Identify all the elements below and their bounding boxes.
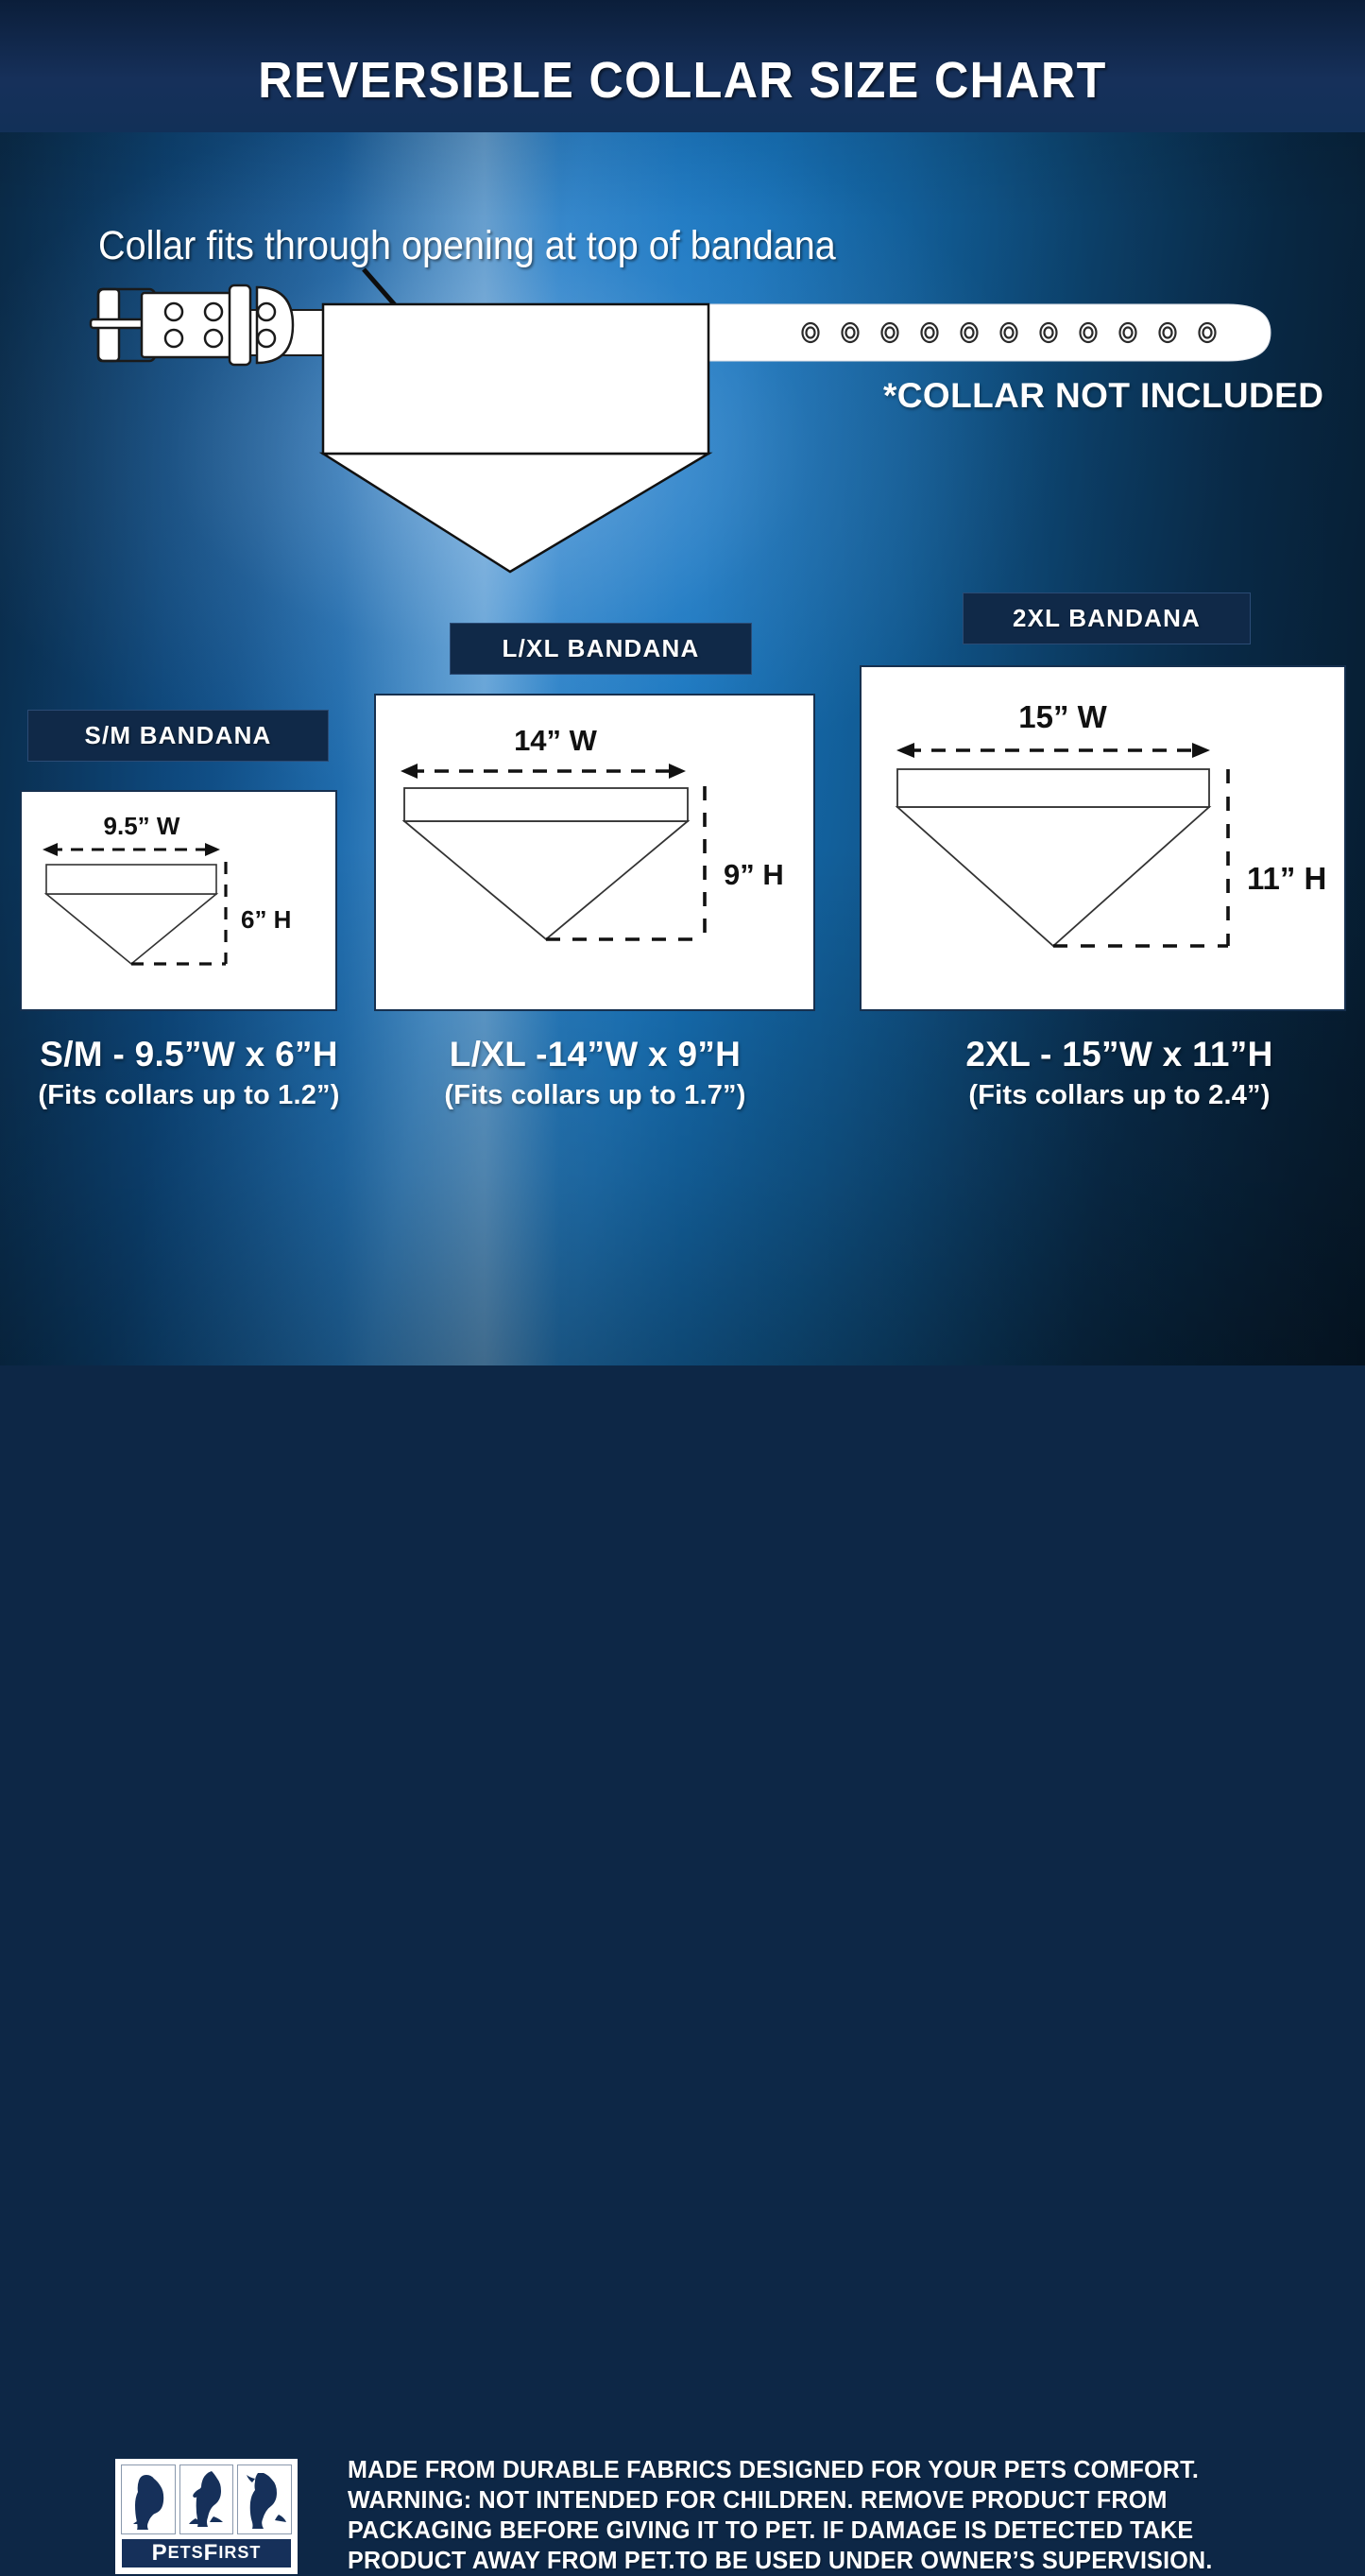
- footer-line-1: MADE FROM DURABLE FABRICS DESIGNED FOR Y…: [348, 2455, 1269, 2485]
- size-caption-lxl: L/XL -14”W x 9”H: [406, 1035, 784, 1074]
- size-card-2xl: 15” W 11” H: [860, 665, 1346, 1011]
- size-subcaption-lxl: (Fits collars up to 1.7”): [406, 1080, 784, 1111]
- size-label-lxl: L/XL BANDANA: [450, 623, 752, 675]
- size-diagram-sm: 9.5” W 6” H: [22, 792, 335, 1009]
- collar-not-included-note: *COLLAR NOT INCLUDED: [883, 376, 1323, 416]
- page-title: REVERSIBLE COLLAR SIZE CHART: [48, 51, 1318, 110]
- size-caption-sm: S/M - 9.5”W x 6”H: [0, 1035, 378, 1074]
- size-card-lxl: 14” W 9” H: [374, 694, 815, 1011]
- footer: PETS FIRST MADE FROM DURABLE FABRICS DES…: [0, 1219, 1365, 1365]
- dim-width-2xl: 15” W: [1018, 699, 1107, 734]
- size-label-2xl-text: 2XL BANDANA: [1013, 604, 1201, 633]
- size-card-sm: 9.5” W 6” H: [20, 790, 337, 1011]
- dog-alert-icon: [243, 2467, 286, 2533]
- footer-line-3: PACKAGING BEFORE GIVING IT TO PET. IF DA…: [348, 2516, 1269, 2546]
- size-diagram-2xl: 15” W 11” H: [862, 667, 1344, 1009]
- size-label-sm: S/M BANDANA: [27, 710, 329, 762]
- dim-height-sm: 6” H: [241, 905, 291, 934]
- pets-first-logo: PETS FIRST: [115, 2459, 298, 2574]
- footer-line-4: PRODUCT AWAY FROM PET.TO BE USED UNDER O…: [348, 2546, 1269, 2576]
- bandana-shape: [323, 304, 708, 572]
- logo-panel-howling-dog: [179, 2464, 234, 2534]
- size-label-lxl-text: L/XL BANDANA: [503, 634, 700, 663]
- size-label-2xl: 2XL BANDANA: [963, 592, 1251, 644]
- logo-wordmark-irst: IRST: [218, 2543, 261, 2563]
- logo-wordmark: PETS FIRST: [121, 2538, 292, 2568]
- dim-height-lxl: 9” H: [724, 858, 784, 891]
- size-caption-2xl: 2XL - 15”W x 11”H: [921, 1035, 1318, 1074]
- dim-width-sm: 9.5” W: [104, 812, 180, 840]
- logo-wordmark-f: F: [204, 2540, 219, 2567]
- size-label-sm-text: S/M BANDANA: [84, 721, 271, 750]
- footer-line-2: WARNING: NOT INTENDED FOR CHILDREN. REMO…: [348, 2485, 1269, 2516]
- logo-wordmark-ets: ETS: [168, 2543, 204, 2563]
- dim-width-lxl: 14” W: [514, 724, 598, 757]
- size-subcaption-2xl: (Fits collars up to 2.4”): [921, 1080, 1318, 1111]
- size-diagram-lxl: 14” W 9” H: [376, 696, 813, 1009]
- collar-bandana-illustration: [0, 255, 1365, 595]
- logo-panel-sitting-dog: [121, 2464, 176, 2534]
- header-bar: REVERSIBLE COLLAR SIZE CHART: [0, 0, 1365, 132]
- collar-buckle-icon: [91, 285, 293, 365]
- logo-wordmark-p: P: [152, 2540, 168, 2567]
- dog-sitting-icon: [128, 2467, 169, 2533]
- logo-panel-alert-dog: [237, 2464, 292, 2534]
- footer-disclaimer: MADE FROM DURABLE FABRICS DESIGNED FOR Y…: [348, 2455, 1269, 2576]
- dog-howling-icon: [185, 2467, 229, 2533]
- collar-bandana-svg: [0, 255, 1365, 595]
- logo-dog-panels: [121, 2464, 292, 2534]
- dim-height-2xl: 11” H: [1247, 861, 1326, 896]
- size-subcaption-sm: (Fits collars up to 1.2”): [0, 1080, 378, 1111]
